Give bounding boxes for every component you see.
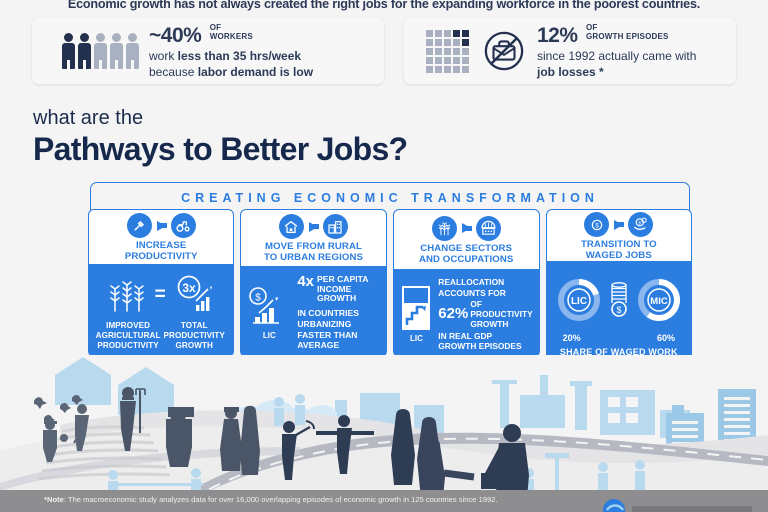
card-title: CHANGE SECTORS AND OCCUPATIONS: [419, 244, 513, 265]
transformation-panel-header: CREATING ECONOMIC TRANSFORMATION: [90, 182, 690, 212]
metric-subtext: IN REAL GDP GROWTH EPISODES: [438, 331, 532, 352]
donut-chart-lic-icon: LIC: [556, 277, 602, 323]
card-body: = 3x IMPROVED AGRICULTURAL PRODUCTIVITY: [88, 265, 234, 357]
card-title-line1: INCREASE: [136, 240, 186, 251]
house-icon: [279, 214, 304, 239]
people-icon: [32, 33, 149, 69]
stat-text-workers: ~40% OF WORKERS work less than 35 hrs/we…: [149, 23, 313, 80]
card-body: $ LIC 4x PER CAPITA: [240, 267, 386, 357]
card-metric-row: $ LIC 4x PER CAPITA: [247, 274, 379, 351]
stat-caption-line2: GROWTH EPISODES: [586, 32, 669, 41]
donut-right-value: 60%: [657, 333, 675, 343]
metric-label-right: TOTAL PRODUCTIVITY GROWTH: [161, 321, 227, 351]
hand-coins-icon: $: [628, 212, 653, 237]
card-icon-pair: [127, 213, 196, 238]
stat-line2: since 1992 actually came with: [537, 49, 696, 64]
growth-chart-icon: 3x: [174, 275, 216, 315]
footer-bar: *Note: The macroeconomic study analyzes …: [0, 490, 768, 512]
rural-to-urban-scene: [0, 355, 768, 500]
card-title: TRANSITION TO WAGED JOBS: [581, 240, 657, 261]
infographic-page: Economic growth has not always created t…: [0, 0, 768, 512]
stat-caption-line2: WORKERS: [210, 32, 253, 41]
shovel-icon: [127, 213, 152, 238]
arrow-right-icon: [309, 222, 318, 232]
arrow-right-icon: [462, 223, 471, 233]
card-header: CHANGE SECTORS AND OCCUPATIONS: [393, 209, 540, 270]
footnote: *Note: The macroeconomic study analyzes …: [44, 495, 498, 504]
card-title-line2: WAGED JOBS: [586, 250, 652, 261]
card-metric-row: LIC REALLOCATION ACCOUNTS FOR 62% OF PRO…: [400, 277, 533, 351]
donut-values: 20% 60%: [553, 333, 685, 343]
stat-line3: because labor demand is low: [149, 65, 313, 80]
card-icon-pair: [432, 216, 501, 241]
reallocation-chart-group: LIC: [400, 277, 434, 351]
tractor-icon: [171, 213, 196, 238]
card-icon-pair: [279, 214, 348, 239]
card-title-line1: CHANGE SECTORS: [420, 243, 512, 254]
income-chart-group: $ LIC: [247, 274, 291, 351]
card-move-rural-to-urban[interactable]: MOVE FROM RURAL TO URBAN REGIONS $: [240, 209, 386, 357]
stat-card-workers: ~40% OF WORKERS work less than 35 hrs/we…: [32, 18, 384, 84]
svg-text:3x: 3x: [182, 281, 196, 295]
wheat-icon: [432, 216, 457, 241]
coin-stack-icon: $: [606, 277, 632, 323]
donut-chart-mic-icon: MIC: [636, 277, 682, 323]
card-metric-labels: IMPROVED AGRICULTURAL PRODUCTIVITY TOTAL…: [95, 321, 227, 351]
dollar-growth-chart-icon: $: [247, 285, 291, 329]
coin-icon: $: [584, 212, 609, 237]
page-title: Pathways to Better Jobs?: [33, 131, 407, 168]
chart-label: LIC: [410, 334, 423, 343]
card-body: LIC $ MIC: [546, 262, 692, 363]
footnote-label: *Note: [44, 495, 64, 504]
metric-headline: REALLOCATION ACCOUNTS FOR: [438, 277, 532, 298]
card-title: INCREASE PRODUCTIVITY: [125, 241, 198, 262]
stat-caption: OF WORKERS: [210, 24, 253, 41]
pathway-cards: INCREASE PRODUCTIVITY =: [88, 209, 692, 357]
card-title-line2: TO URBAN REGIONS: [264, 252, 363, 263]
arrow-right-icon: [157, 221, 166, 231]
svg-text:$: $: [639, 221, 642, 227]
stat-line3: job losses *: [537, 65, 696, 80]
stat-line3-prefix: because: [149, 65, 198, 79]
svg-text:$: $: [256, 293, 262, 304]
stat-card-growth-episodes: 12% OF GROWTH EPISODES since 1992 actual…: [404, 18, 736, 84]
metric-headline: 4x PER CAPITA INCOME GROWTH: [297, 274, 379, 304]
step-chart-icon: [401, 285, 431, 331]
dot-grid-icon: [404, 30, 483, 73]
donut-left-value: 20%: [563, 333, 581, 343]
donut-right-label: MIC: [650, 296, 668, 307]
metric-percent-row: 62% OF PRODUCTIVITY GROWTH: [438, 299, 532, 330]
page-headline: Economic growth has not always created t…: [0, 0, 768, 11]
metric-percent: 62%: [438, 305, 468, 323]
stat-line2-prefix: work: [149, 49, 178, 63]
metric-multiplier: 4x: [297, 274, 314, 289]
panel-label: CREATING ECONOMIC TRANSFORMATION: [181, 191, 599, 205]
stat-text-growth: 12% OF GROWTH EPISODES since 1992 actual…: [537, 23, 696, 80]
svg-text:$: $: [616, 305, 621, 315]
card-increase-productivity[interactable]: INCREASE PRODUCTIVITY =: [88, 209, 234, 357]
stat-caption: OF GROWTH EPISODES: [586, 24, 669, 41]
card-title-line2: AND OCCUPATIONS: [419, 254, 513, 265]
chicken-1: [34, 397, 47, 409]
stat-line3-bold: labor demand is low: [198, 65, 313, 79]
stat-line3-bold: job losses *: [537, 65, 604, 79]
card-icon-pair: $ $: [584, 212, 653, 237]
statistics-row: ~40% OF WORKERS work less than 35 hrs/we…: [0, 18, 768, 90]
organization-logo: [600, 496, 760, 512]
stat-value: ~40%: [149, 24, 201, 47]
page-title-small: what are the: [33, 107, 143, 130]
market-stall-icon: [476, 216, 501, 241]
card-metric-row: LIC $ MIC: [553, 269, 685, 331]
no-briefcase-icon: [483, 30, 525, 72]
card-metric-text: REALLOCATION ACCOUNTS FOR 62% OF PRODUCT…: [438, 277, 532, 351]
chart-label: LIC: [263, 331, 276, 340]
card-header: INCREASE PRODUCTIVITY: [88, 209, 234, 265]
card-header: MOVE FROM RURAL TO URBAN REGIONS: [240, 209, 386, 267]
stat-value: 12%: [537, 24, 578, 47]
stat-line2-bold: less than 35 hrs/week: [178, 49, 301, 63]
card-change-sectors[interactable]: CHANGE SECTORS AND OCCUPATIONS LIC: [393, 209, 540, 357]
city-buildings-icon: [323, 214, 348, 239]
metric-subtext: IN COUNTRIES URBANIZING FASTER THAN AVER…: [297, 308, 379, 351]
stat-line2: work less than 35 hrs/week: [149, 49, 313, 64]
handshake: [444, 473, 474, 477]
card-title-line2: PRODUCTIVITY: [125, 251, 198, 262]
donut-left-label: LIC: [571, 296, 587, 307]
briefcase: [481, 473, 501, 489]
equals-sign: =: [155, 284, 166, 306]
card-title-line1: MOVE FROM RURAL: [265, 241, 362, 252]
footnote-text: : The macroeconomic study analyzes data …: [64, 495, 498, 504]
card-transition-waged-jobs[interactable]: $ $ TRANSITION TO WAGED JOBS: [546, 209, 692, 357]
card-body: LIC REALLOCATION ACCOUNTS FOR 62% OF PRO…: [393, 270, 540, 357]
card-metric-row: = 3x: [95, 272, 227, 317]
card-title-line1: TRANSITION TO: [581, 239, 657, 250]
arrow-right-icon: [614, 220, 623, 230]
card-metric-text: 4x PER CAPITA INCOME GROWTH IN COUNTRIES…: [297, 274, 379, 351]
card-header: $ $ TRANSITION TO WAGED JOBS: [546, 209, 692, 262]
metric-label-left: IMPROVED AGRICULTURAL PRODUCTIVITY: [95, 321, 161, 351]
wheat-icon: [107, 275, 147, 315]
card-title: MOVE FROM RURAL TO URBAN REGIONS: [264, 242, 363, 263]
